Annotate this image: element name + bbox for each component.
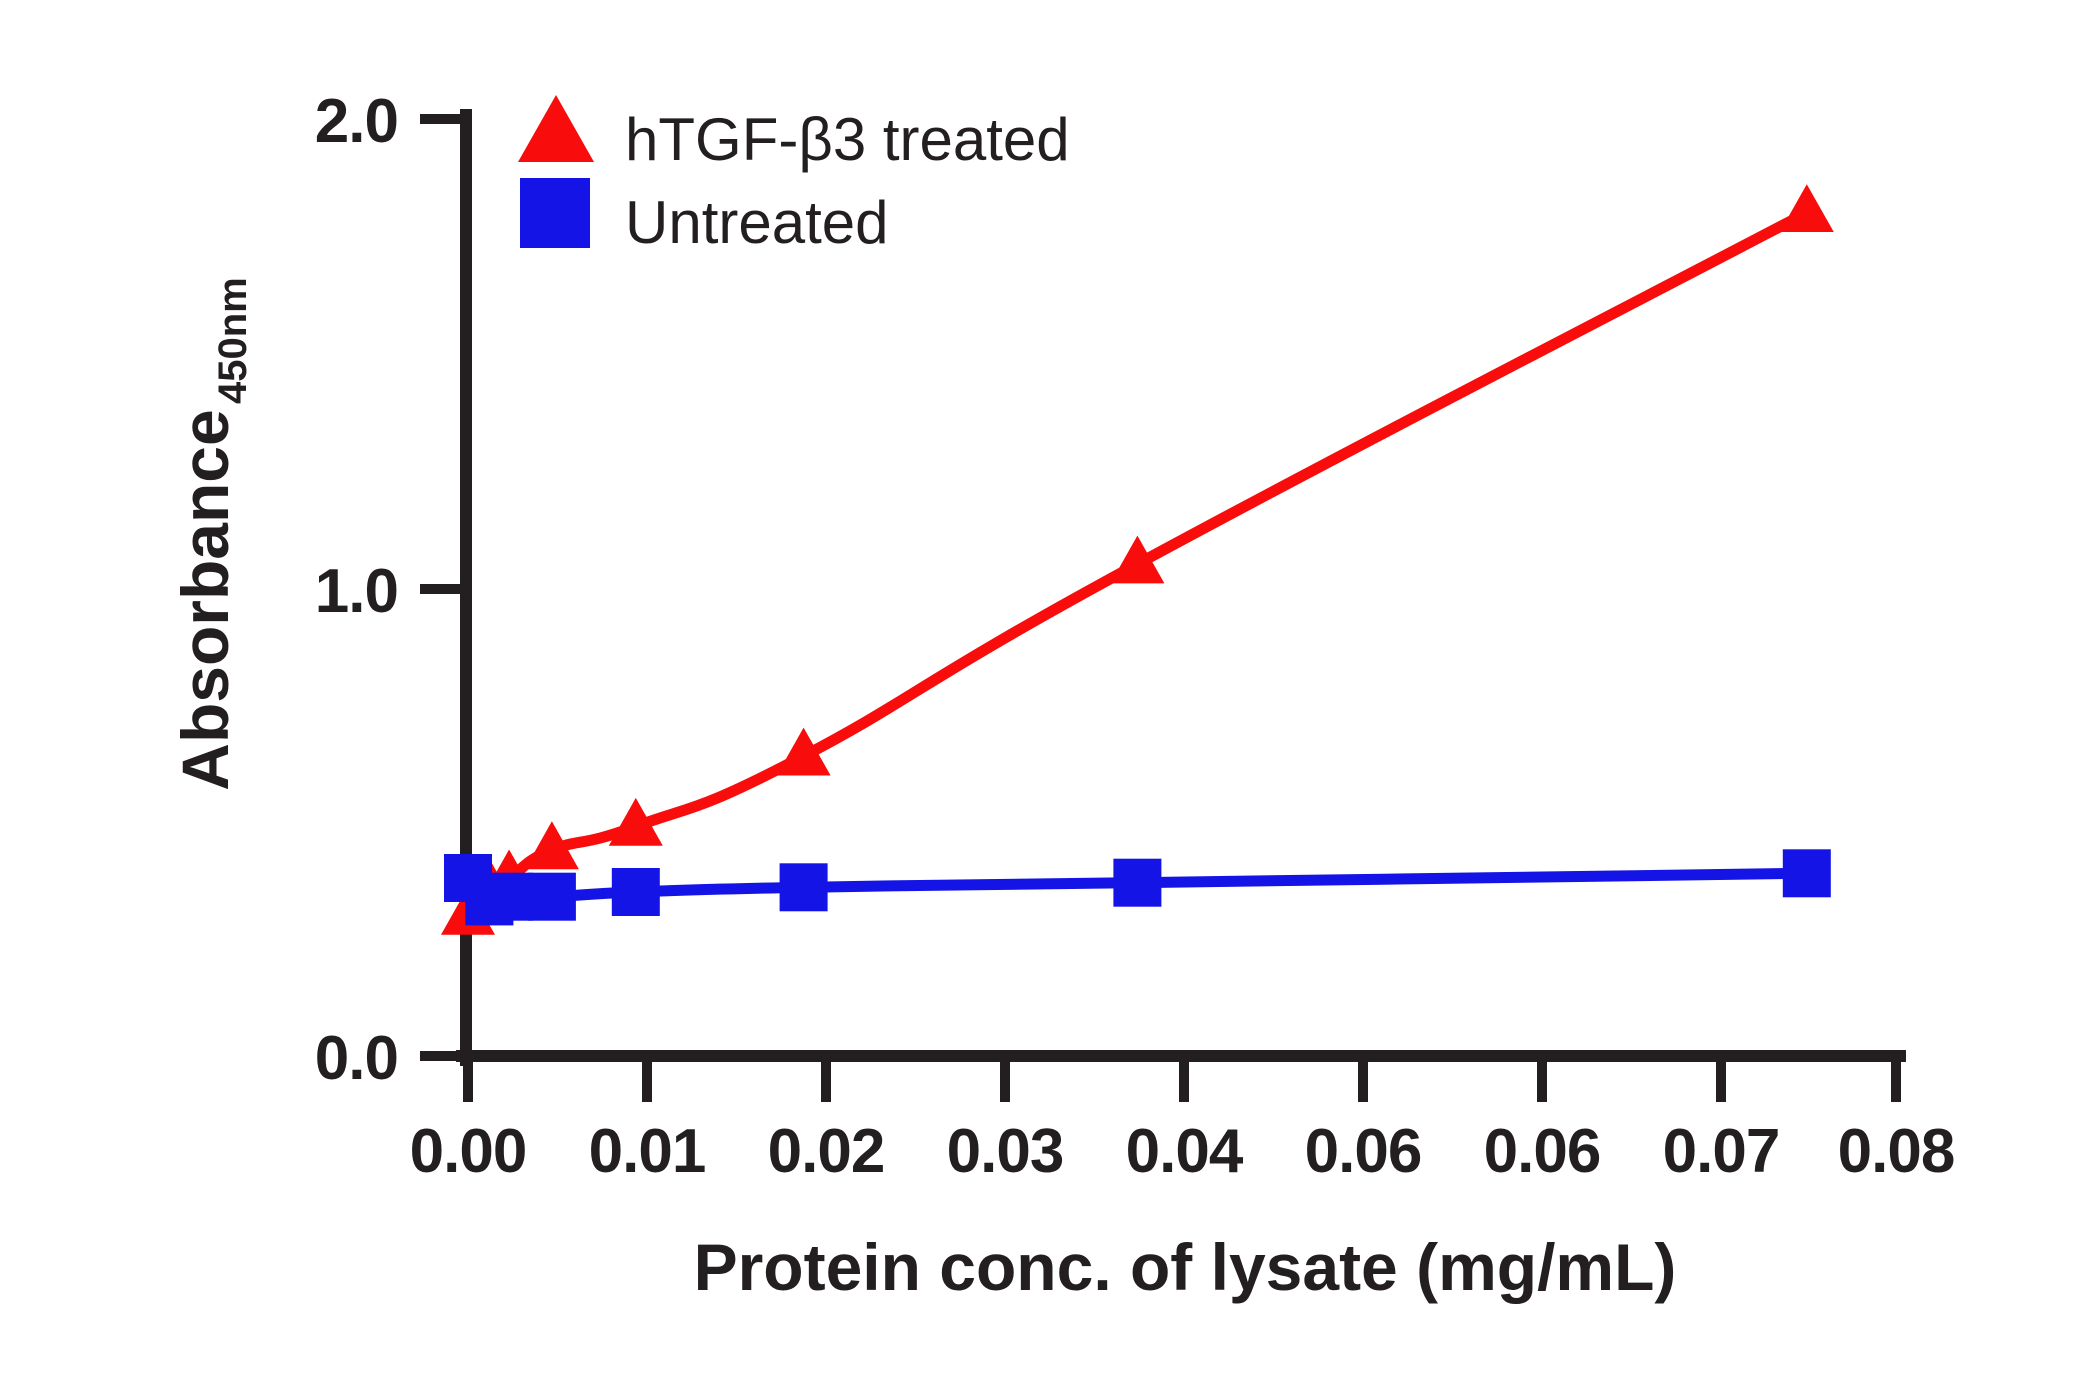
legend-label-treated: hTGF-β3 treated	[625, 106, 1070, 173]
x-tick-label-5: 0.06	[1305, 1117, 1422, 1186]
chart-background	[0, 0, 2080, 1400]
data-point-square	[485, 873, 533, 921]
y-axis-title-main: Absorbance	[168, 409, 242, 790]
data-point-square	[780, 863, 828, 911]
data-point-square	[528, 873, 576, 921]
absorbance-line-chart: 2.0 1.0 0.0 Absorbance 450nm 0.00 0.01 0…	[0, 0, 2080, 1400]
x-tick-label-8: 0.08	[1838, 1117, 1955, 1186]
data-point-square	[1113, 859, 1161, 907]
y-tick-label-1: 1.0	[315, 557, 398, 626]
y-tick-label-0: 0.0	[315, 1024, 398, 1093]
x-tick-label-4: 0.04	[1126, 1117, 1244, 1186]
x-tick-label-7: 0.07	[1663, 1117, 1780, 1186]
x-tick-label-0: 0.00	[410, 1117, 527, 1186]
x-axis-title: Protein conc. of lysate (mg/mL)	[694, 1230, 1677, 1304]
data-point-square	[612, 868, 660, 916]
chart-figure: 2.0 1.0 0.0 Absorbance 450nm 0.00 0.01 0…	[0, 0, 2080, 1400]
x-tick-label-3: 0.03	[947, 1117, 1064, 1186]
data-point-square	[1783, 849, 1831, 897]
y-tick-label-2: 2.0	[315, 87, 398, 156]
x-tick-label-1: 0.01	[589, 1117, 706, 1186]
x-tick-label-2: 0.02	[768, 1117, 885, 1186]
y-axis-title-subscript: 450nm	[211, 277, 255, 404]
legend-label-untreated: Untreated	[625, 189, 889, 256]
legend-square-icon	[520, 178, 590, 248]
x-tick-label-6: 0.06	[1484, 1117, 1601, 1186]
